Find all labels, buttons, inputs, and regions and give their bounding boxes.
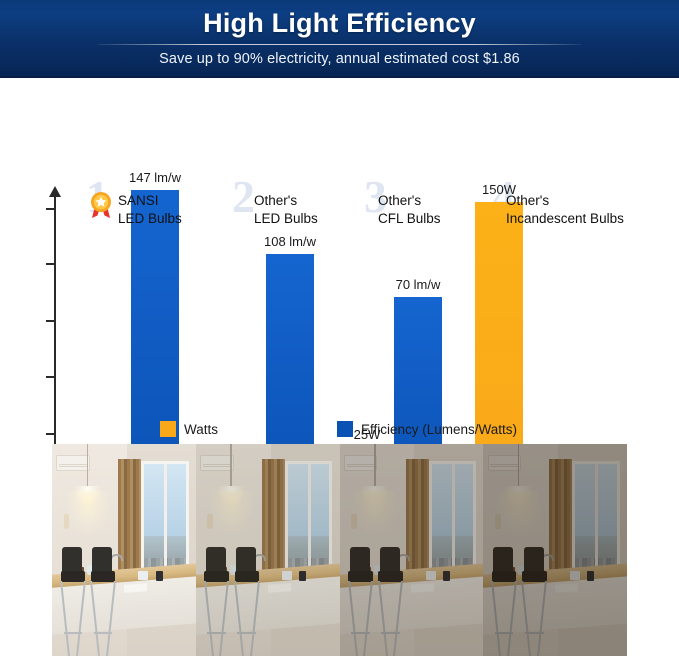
category-label-4: Other's Incandescent Bulbs <box>506 192 624 228</box>
bar-label-efficiency-2: 108 lm/w <box>240 234 340 250</box>
bar-label-efficiency-3: 70 lm/w <box>372 277 464 293</box>
page-title: High Light Efficiency <box>0 6 679 40</box>
photo-panel-4 <box>483 444 627 656</box>
photo-panel-2 <box>196 444 340 656</box>
category-label-line2: CFL Bulbs <box>378 210 441 228</box>
room-scene <box>52 444 196 656</box>
efficiency-bar-chart: 1 SANSI LED Bulbs 2 Other's LED Bulbs 3 … <box>0 78 679 438</box>
header-banner: High Light Efficiency Save up to 90% ele… <box>0 0 679 78</box>
banner-subtitle: Save up to 90% electricity, annual estim… <box>0 48 679 70</box>
banner-divider <box>98 44 581 45</box>
category-label-line2: LED Bulbs <box>254 210 318 228</box>
y-axis-tick <box>46 263 55 265</box>
category-label-line1: SANSI <box>118 192 182 210</box>
gold-medal-icon <box>88 190 114 220</box>
y-axis-tick <box>46 320 55 322</box>
legend-label-watts: Watts <box>184 422 218 438</box>
y-axis-tick <box>46 208 55 210</box>
category-label-line2: LED Bulbs <box>118 210 182 228</box>
lighting-comparison-photo-strip <box>52 444 627 656</box>
category-label-line2: Incandescent Bulbs <box>506 210 624 228</box>
legend-swatch-efficiency <box>337 421 353 437</box>
category-label-line1: Other's <box>506 192 624 210</box>
category-label-1: SANSI LED Bulbs <box>118 192 182 228</box>
legend-swatch-watts <box>160 421 176 437</box>
legend-label-efficiency: Efficiency (Lumens/Watts) <box>361 422 517 438</box>
photo-panel-1 <box>52 444 196 656</box>
category-label-line1: Other's <box>254 192 318 210</box>
room-scene <box>340 444 484 656</box>
photo-panel-3 <box>340 444 484 656</box>
y-axis-tick <box>46 376 55 378</box>
room-scene <box>196 444 340 656</box>
category-label-3: Other's CFL Bulbs <box>378 192 441 228</box>
y-axis-tick <box>46 433 55 435</box>
bar-label-efficiency-1: 147 lm/w <box>105 170 205 186</box>
category-label-2: Other's LED Bulbs <box>254 192 318 228</box>
category-label-line1: Other's <box>378 192 441 210</box>
room-scene <box>483 444 627 656</box>
category-number-watermark: 2 <box>232 174 255 220</box>
